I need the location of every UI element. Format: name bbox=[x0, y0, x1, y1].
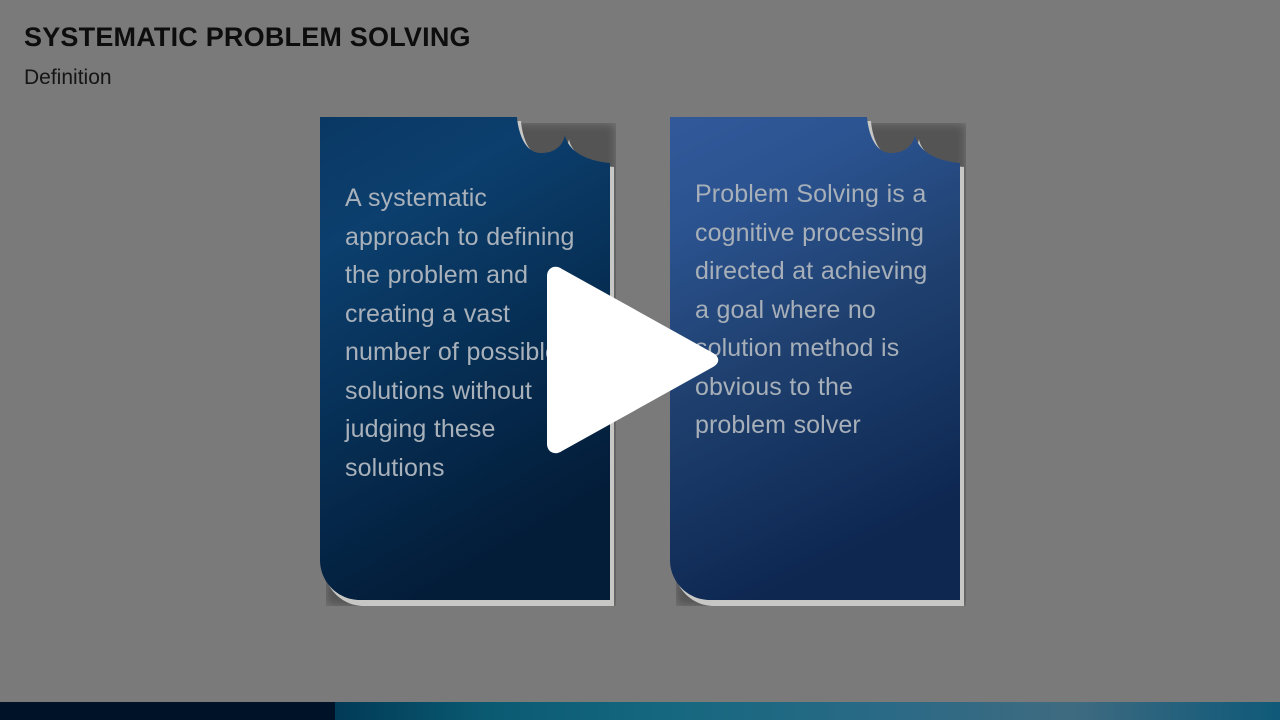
play-button[interactable] bbox=[529, 262, 725, 458]
slide-canvas: SYSTEMATIC PROBLEM SOLVING Definition bbox=[0, 0, 1280, 720]
page-title: SYSTEMATIC PROBLEM SOLVING bbox=[24, 22, 471, 53]
bottom-bar-right-segment bbox=[335, 702, 1280, 720]
page-subtitle: Definition bbox=[24, 66, 112, 90]
play-triangle-icon bbox=[529, 262, 725, 458]
bottom-bar-left-segment bbox=[0, 702, 335, 720]
bottom-bar bbox=[0, 702, 1280, 720]
